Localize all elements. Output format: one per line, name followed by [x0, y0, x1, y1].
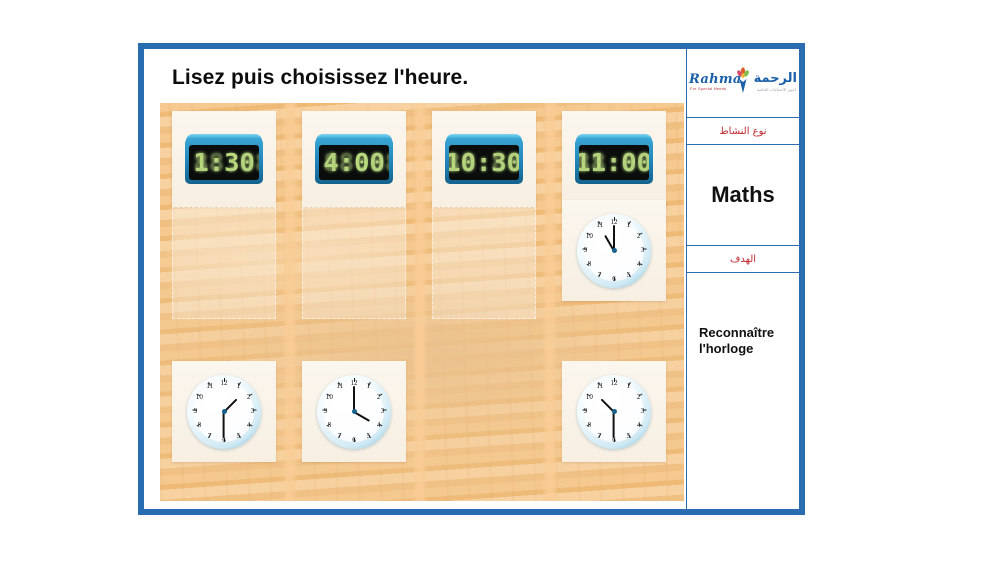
- bank-card-4[interactable]: 121234567891011: [562, 361, 666, 462]
- digital-card-2: 4:0088:88: [302, 111, 406, 207]
- minute-hand: [613, 225, 615, 251]
- subject-value: Maths: [711, 182, 775, 208]
- minute-hand: [613, 412, 615, 438]
- clock-shell-body: 1:3088:88: [185, 138, 263, 184]
- clock-tick: [252, 409, 256, 410]
- clock-tick: [642, 409, 646, 410]
- digital-clock-2: 4:0088:88: [315, 134, 393, 184]
- clock-screen: 10:3088:88: [449, 145, 519, 180]
- clock-tick: [614, 438, 615, 442]
- answer-slot-2[interactable]: [302, 207, 406, 319]
- clock-center-pin: [222, 409, 227, 414]
- clock-tick: [642, 248, 646, 249]
- digital-ghost-segments: 88:88: [323, 150, 389, 175]
- wood-band: [542, 103, 558, 501]
- objective-header: الهدف: [687, 246, 799, 272]
- objective-value-row: Reconnaître l'horloge: [687, 273, 799, 509]
- bank-card-1[interactable]: 121234567891011: [172, 361, 276, 462]
- clock-screen: 1:3088:88: [189, 145, 259, 180]
- clock-screen: 4:0088:88: [319, 145, 389, 180]
- answer-slot-4-filled[interactable]: 121234567891011: [562, 200, 666, 301]
- info-sidebar: Rahma For Special Needs الرحمة لذوي الاح…: [686, 49, 799, 509]
- clock-tick: [192, 409, 196, 410]
- digital-ghost-segments: 88:88: [449, 150, 519, 175]
- wood-board: 1:3088:88 4:0088:88: [160, 103, 684, 501]
- rahma-logo: Rahma For Special Needs الرحمة لذوي الاح…: [687, 66, 799, 100]
- answer-slot-1[interactable]: [172, 207, 276, 319]
- digital-time-3: 10:3088:88: [449, 150, 519, 175]
- clock-tick: [224, 438, 225, 442]
- clock-center-pin: [612, 248, 617, 253]
- wood-band: [282, 103, 298, 501]
- clock-tick: [614, 217, 615, 221]
- clock-screen: 11:0088:88: [579, 145, 649, 180]
- objective-value: Reconnaître l'horloge: [699, 325, 787, 358]
- clock-center-pin: [612, 409, 617, 414]
- logo-arabic-tagline: لذوي الاحتياجات الخاصة: [757, 87, 796, 92]
- clock-shell-body: 11:0088:88: [575, 138, 653, 184]
- screenshot-root: Lisez puis choisissez l'heure. 1:3088:88: [0, 0, 1000, 562]
- logo-arabic-name: الرحمة: [754, 71, 797, 86]
- digital-time-2: 4:0088:88: [323, 150, 384, 175]
- brand-logo: Rahma For Special Needs الرحمة لذوي الاح…: [687, 49, 799, 117]
- digital-clock-4: 11:0088:88: [575, 134, 653, 184]
- objective-label: الهدف: [730, 254, 756, 265]
- answer-slot-3[interactable]: [432, 207, 536, 319]
- page-title: Lisez puis choisissez l'heure.: [172, 66, 468, 90]
- digital-time-4: 11:0088:88: [579, 150, 649, 175]
- clock-tick: [322, 409, 326, 410]
- clock-tick: [224, 378, 225, 382]
- flower-icon: [734, 66, 752, 94]
- digital-ghost-segments: 88:88: [193, 150, 259, 175]
- activity-type-header: نوع النشاط: [687, 118, 799, 144]
- subject-value-row: Maths: [687, 145, 799, 245]
- clock-tick: [614, 378, 615, 382]
- analog-clock-bank-4: 121234567891011: [577, 375, 651, 449]
- digital-card-3: 10:3088:88: [432, 111, 536, 207]
- analog-clock-bank-1: 121234567891011: [187, 375, 261, 449]
- digital-clock-3: 10:3088:88: [445, 134, 523, 184]
- exercise-pane: Lisez puis choisissez l'heure. 1:3088:88: [144, 49, 686, 509]
- digital-clock-1: 1:3088:88: [185, 134, 263, 184]
- clock-shell-body: 4:0088:88: [315, 138, 393, 184]
- wood-band: [412, 103, 428, 501]
- clock-tick: [582, 248, 586, 249]
- clock-center-pin: [352, 409, 357, 414]
- analog-clock-bank-2: 121234567891011: [317, 375, 391, 449]
- clock-tick: [614, 277, 615, 281]
- worksheet-frame: Lisez puis choisissez l'heure. 1:3088:88: [138, 43, 805, 515]
- clock-shell-body: 10:3088:88: [445, 138, 523, 184]
- clock-tick: [382, 409, 386, 410]
- digital-time-1: 1:3088:88: [193, 150, 254, 175]
- minute-hand: [353, 386, 355, 412]
- clock-tick: [582, 409, 586, 410]
- digital-card-1: 1:3088:88: [172, 111, 276, 207]
- activity-type-label: نوع النشاط: [719, 126, 766, 137]
- digital-card-4: 11:0088:88: [562, 111, 666, 207]
- minute-hand: [223, 412, 225, 438]
- logo-latin-tagline: For Special Needs: [690, 86, 726, 91]
- clock-tick: [354, 378, 355, 382]
- clock-tick: [354, 438, 355, 442]
- bank-card-2[interactable]: 121234567891011: [302, 361, 406, 462]
- digital-ghost-segments: 88:88: [579, 150, 649, 175]
- analog-clock-answer-4: 121234567891011: [577, 214, 651, 288]
